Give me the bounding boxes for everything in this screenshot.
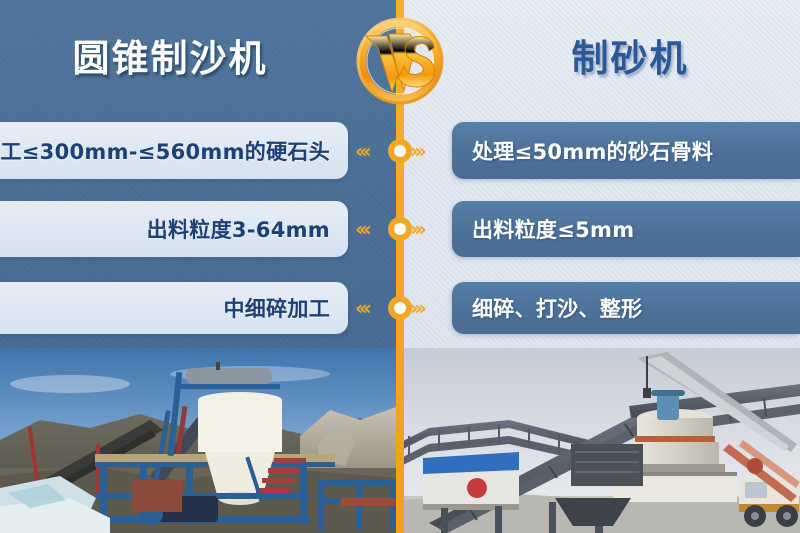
timeline-node-1 [388, 139, 412, 163]
right-machine-photo [399, 348, 800, 533]
vs-badge-icon: VS [348, 8, 452, 112]
left-feature-text-3: 中细碎加工 [224, 293, 331, 323]
comparison-infographic: 圆锥制沙机 制砂机 加工≤300mm-≤560mm的硬石头 ‹‹‹ ››› 处理… [0, 0, 800, 533]
left-feature-text-2: 出料粒度3-64mm [147, 214, 330, 244]
timeline-node-3 [388, 296, 412, 320]
left-feature-pill-2: 出料粒度3-64mm [0, 201, 348, 257]
chevron-right-icon-3: ››› [406, 282, 454, 334]
left-product-title: 圆锥制沙机 [0, 28, 340, 90]
right-feature-text-1: 处理≤50mm的砂石骨料 [472, 136, 713, 166]
right-feature-text-2: 出料粒度≤5mm [472, 214, 634, 244]
right-feature-pill-2: 出料粒度≤5mm [452, 201, 800, 257]
chevron-right-icon-1: ››› [406, 122, 454, 179]
left-feature-pill-3: 中细碎加工 [0, 282, 348, 334]
right-feature-pill-3: 细碎、打沙、整形 [452, 282, 800, 334]
chevron-right-icon-2: ››› [406, 201, 454, 257]
right-feature-text-3: 细碎、打沙、整形 [472, 293, 642, 323]
left-feature-pill-1: 加工≤300mm-≤560mm的硬石头 [0, 122, 348, 179]
left-machine-photo [0, 348, 399, 533]
right-product-title: 制砂机 [460, 28, 800, 90]
right-feature-pill-1: 处理≤50mm的砂石骨料 [452, 122, 800, 179]
left-feature-text-1: 加工≤300mm-≤560mm的硬石头 [0, 136, 330, 166]
timeline-node-2 [388, 217, 412, 241]
